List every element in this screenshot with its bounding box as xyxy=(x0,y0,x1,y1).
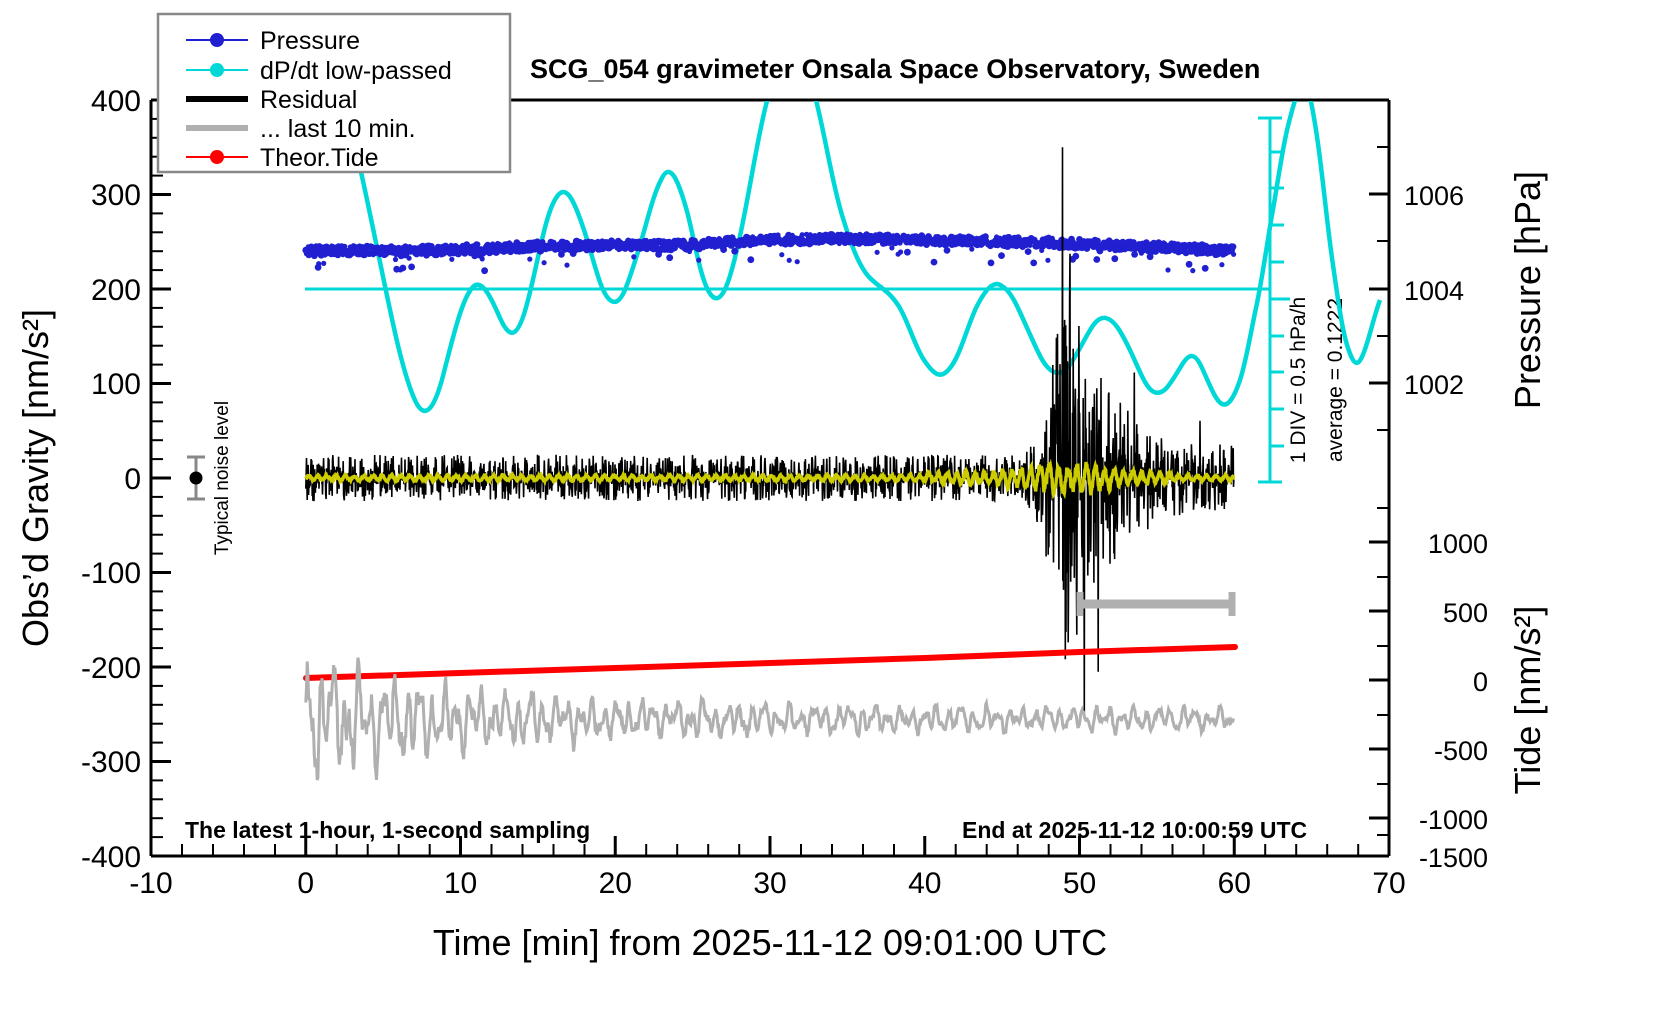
x-tick-m10: -10 xyxy=(129,867,172,900)
x-tick-50: 50 xyxy=(1063,867,1096,900)
pressure-marker-icon xyxy=(210,33,224,47)
legend-label-residual: Residual xyxy=(260,86,357,114)
gravimeter-chart: SCG_054 gravimeter Onsala Space Observat… xyxy=(0,0,1660,1020)
y-axis-left-label: Obs’d Gravity [nm/s²] xyxy=(15,309,56,647)
chart-root: SCG_054 gravimeter Onsala Space Observat… xyxy=(0,0,1660,1020)
pressure-tick-1004: 1004 xyxy=(1404,276,1464,306)
legend-label-dpdt: dP/dt low-passed xyxy=(260,57,452,85)
x-tick-30: 30 xyxy=(753,867,786,900)
tide-tick-500: 500 xyxy=(1443,598,1488,628)
y-tick-200: 200 xyxy=(91,274,141,307)
y-tick-400: 400 xyxy=(91,85,141,118)
legend-label-last-10-min: ... last 10 min. xyxy=(260,115,416,143)
page-title: SCG_054 gravimeter Onsala Space Observat… xyxy=(530,54,1260,84)
tide-tick-m1000: -1000 xyxy=(1419,805,1488,835)
x-tick-40: 40 xyxy=(908,867,941,900)
y-tick-m300: -300 xyxy=(81,746,141,779)
y-axis-pressure-label: Pressure [hPa] xyxy=(1507,171,1548,409)
legend-label-theor-tide: Theor.Tide xyxy=(260,144,379,172)
legend-label-pressure: Pressure xyxy=(260,27,360,55)
typical-noise-level-label: Typical noise level xyxy=(212,401,233,555)
pressure-tick-1006: 1006 xyxy=(1404,181,1464,211)
tide-tick-m500: -500 xyxy=(1434,736,1488,766)
tide-tick-m1500: -1500 xyxy=(1419,843,1488,873)
x-tick-0: 0 xyxy=(297,867,314,900)
tide-marker-icon xyxy=(210,150,224,164)
y-tick-m100: -100 xyxy=(81,557,141,590)
y-axis-tide-label: Tide [nm/s²] xyxy=(1507,606,1548,795)
dpdt-scale-label: 1 DIV = 0.5 hPa/h xyxy=(1287,297,1310,463)
y-tick-100: 100 xyxy=(91,368,141,401)
tide-tick-0: 0 xyxy=(1473,667,1488,697)
y-tick-300: 300 xyxy=(91,179,141,212)
x-tick-60: 60 xyxy=(1218,867,1251,900)
y-tick-m200: -200 xyxy=(81,652,141,685)
pressure-tick-1002: 1002 xyxy=(1404,370,1464,400)
dpdt-marker-icon xyxy=(210,63,224,77)
tide-tick-1000: 1000 xyxy=(1428,529,1488,559)
x-tick-20: 20 xyxy=(599,867,632,900)
y-tick-0: 0 xyxy=(124,463,141,496)
footer-note-right: End at 2025-11-12 10:00:59 UTC xyxy=(962,817,1307,843)
footer-note-left: The latest 1-hour, 1-second sampling xyxy=(185,817,590,843)
x-axis-label: Time [min] from 2025-11-12 09:01:00 UTC xyxy=(433,922,1107,963)
x-tick-10: 10 xyxy=(444,867,477,900)
x-tick-70: 70 xyxy=(1372,867,1405,900)
legend: Pressure dP/dt low-passed Residual ... l… xyxy=(158,14,510,172)
